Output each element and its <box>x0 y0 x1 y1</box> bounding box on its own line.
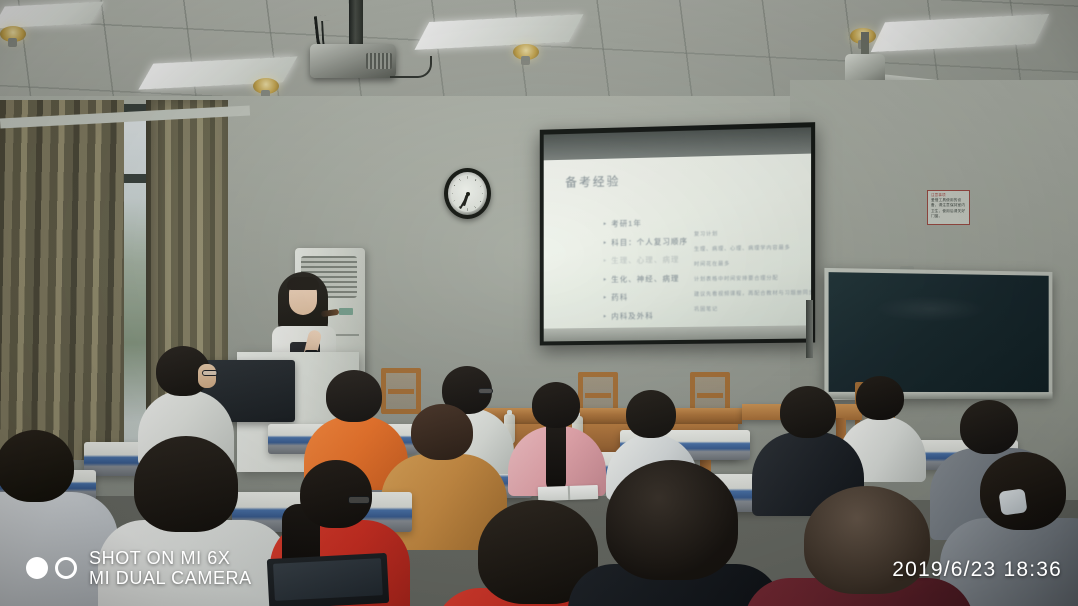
dual-camera-icon <box>26 557 77 579</box>
slide-surface: 备考经验 考研1年 科目：个人复习顺序 生理、心理、病理 生化、神经、病理 药科… <box>544 154 811 329</box>
wall-clock <box>444 168 491 219</box>
screen-pull-rod <box>806 300 813 358</box>
classroom-photo: 备考经验 考研1年 科目：个人复习顺序 生理、心理、病理 生化、神经、病理 药科… <box>0 0 1078 606</box>
person-head <box>532 382 580 428</box>
slide-title: 备考经验 <box>565 172 620 190</box>
wall-notice-sign: 注意事项 爱惜工具使用的设备，请注意保持室内卫生，使用后请关好门窗。 <box>927 190 970 225</box>
wooden-chair <box>381 368 421 414</box>
slide-note: 巩固笔记 <box>694 305 807 315</box>
open-notebook <box>538 485 598 501</box>
timestamp-watermark: 2019/6/23 18:36 <box>892 558 1062 582</box>
person-face <box>198 364 216 388</box>
person-head <box>960 400 1018 454</box>
ceiling-lamp-icon <box>253 78 279 94</box>
slide-notes-column: 复习计划 生理、病理、心理、病理学内容最多 时间花在最多 计划表格中时间安排要合… <box>694 228 807 321</box>
slide-note: 建议先看视频课程，再配合教材与习题册同步复习 <box>694 289 807 299</box>
person-head <box>856 376 904 420</box>
microphone-icon <box>321 309 340 317</box>
watermark-line-1: SHOT ON MI 6X <box>89 548 252 568</box>
eyeglasses-icon <box>348 496 370 504</box>
eyeglasses-icon <box>202 370 218 376</box>
watermark-line-2: MI DUAL CAMERA <box>89 568 252 588</box>
person-head <box>780 386 836 438</box>
person-head <box>606 460 738 580</box>
green-chalkboard <box>824 268 1052 400</box>
clock-center-dot <box>466 192 470 196</box>
window-gap <box>121 112 149 442</box>
projector-cable <box>390 56 432 78</box>
person-head <box>300 460 372 528</box>
slide-note: 计划表格中时间安排要合理分配 <box>694 274 807 284</box>
slide-bullet: 考研1年 <box>603 216 733 230</box>
slide-note: 时间花在最多 <box>694 259 807 269</box>
ceiling-lamp-icon <box>513 44 539 60</box>
person-head <box>0 430 74 502</box>
screen-bottom-bar <box>544 325 811 341</box>
circle-filled-icon <box>26 557 48 579</box>
slide-note: 复习计划 <box>694 228 807 238</box>
projection-screen: 备考经验 考研1年 科目：个人复习顺序 生理、心理、病理 生化、神经、病理 药科… <box>540 122 815 345</box>
presenter-bangs <box>287 277 319 290</box>
person-head <box>134 436 238 532</box>
notice-body: 爱惜工具使用的设备，请注意保持室内卫生，使用后请关好门窗。 <box>931 198 966 220</box>
watermark-text: SHOT ON MI 6X MI DUAL CAMERA <box>89 548 252 588</box>
ceiling-lamp-icon <box>0 26 26 42</box>
person-head <box>411 404 473 460</box>
camera-watermark: SHOT ON MI 6X MI DUAL CAMERA <box>26 548 252 588</box>
person-head <box>626 390 676 438</box>
face-mask-icon <box>998 488 1027 515</box>
person-head <box>326 370 382 422</box>
circle-outline-icon <box>55 557 77 579</box>
curtain-left <box>0 100 124 460</box>
slide-note: 生理、病理、心理、病理学内容最多 <box>694 244 807 254</box>
eyeglasses-icon <box>478 388 493 394</box>
laptop <box>267 553 389 606</box>
ceiling-projector <box>310 44 396 78</box>
person-ponytail <box>546 418 566 492</box>
wooden-table <box>480 408 742 424</box>
